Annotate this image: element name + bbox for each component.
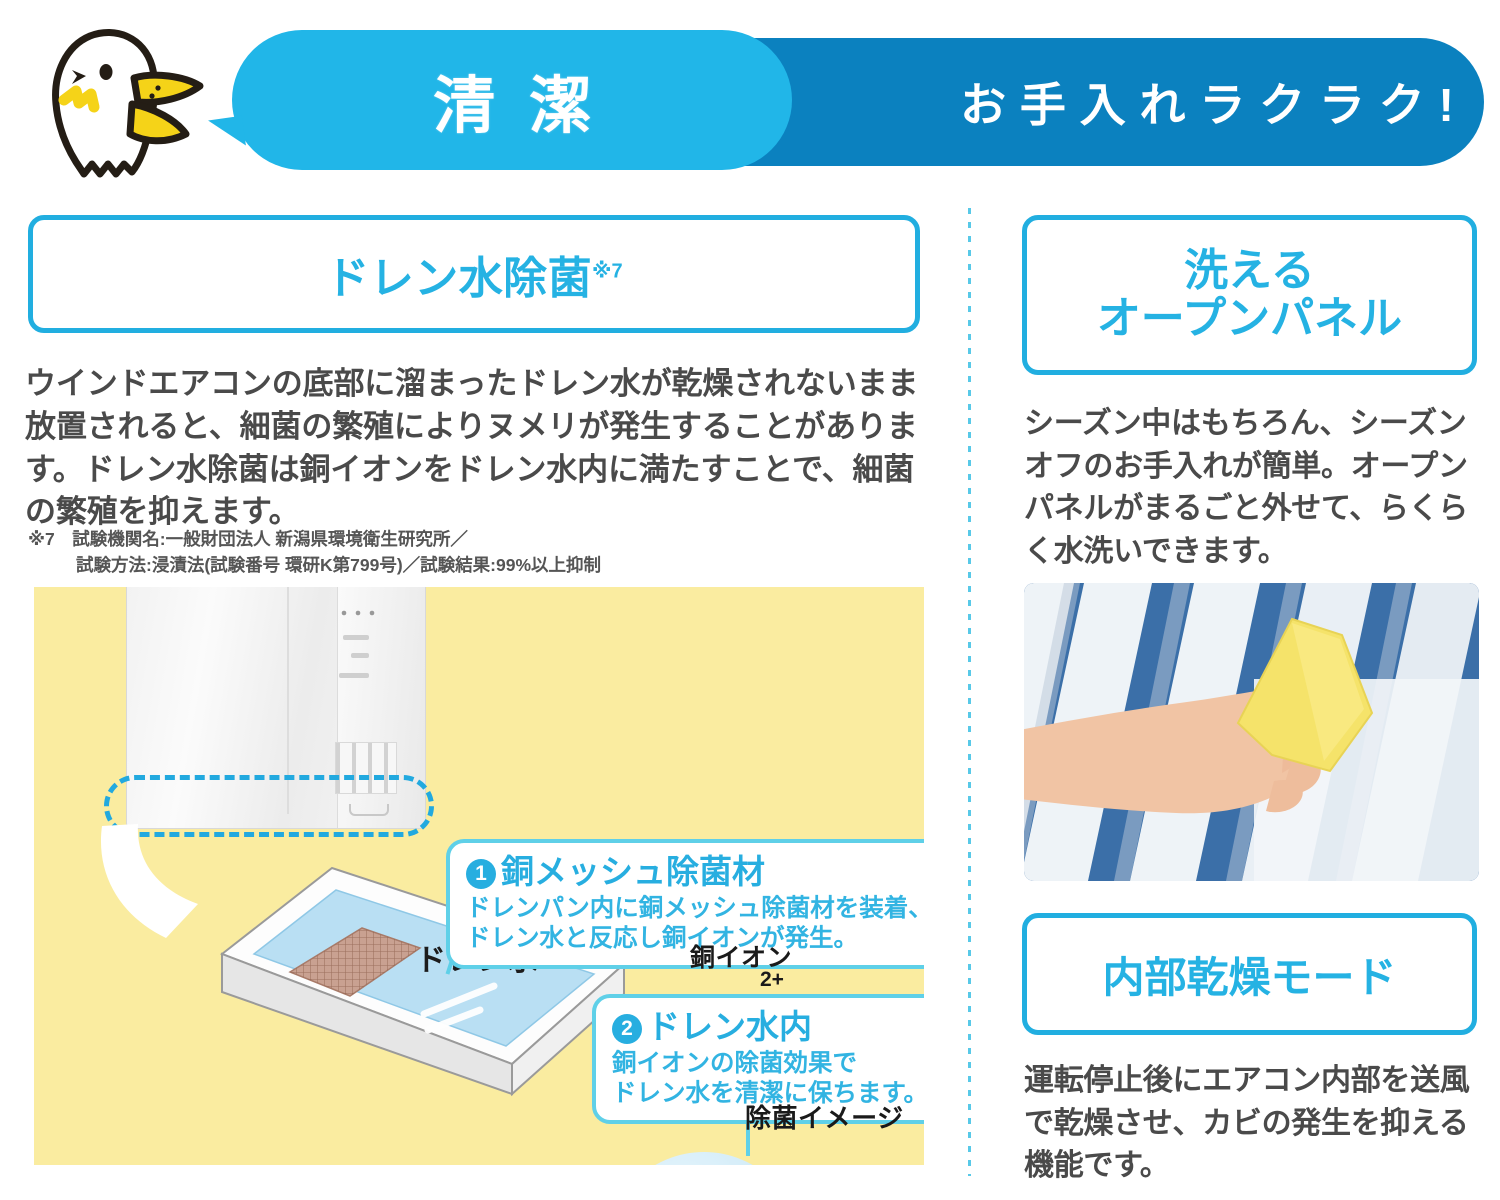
drain-title-footnote-marker: ※7: [592, 260, 623, 282]
drain-title-label: ドレン水除菌: [325, 254, 592, 303]
drain-title-text: ドレン水除菌※7: [325, 242, 622, 306]
footnote-line-1: ※7 試験機関名:一般財団法人 新潟県環境衛生研究所／: [28, 529, 468, 549]
right-column: 洗える オープンパネル シーズン中はもちろん、シーズンオフのお手入れが簡単。オー…: [1010, 205, 1490, 1185]
callout-2-number: 2: [612, 1014, 642, 1044]
callout-2-body-line-1: 銅イオンの除菌効果で: [612, 1050, 857, 1077]
washable-open-panel-body: シーズン中はもちろん、シーズンオフのお手入れが簡単。オープンパネルがまるごと外せ…: [1024, 403, 1482, 573]
left-column: ドレン水除菌※7 ウインドエアコンの底部に溜まったドレン水が乾燥されないまま放置…: [20, 205, 940, 1180]
sterilization-illustration: Cu 2+ Cu 2+ Cu 2+ Cu 2+ Cu 2+ 菌: [606, 1152, 802, 1165]
copper-ion-caption-charge: 2+: [760, 968, 784, 992]
drain-footnote: ※7 試験機関名:一般財団法人 新潟県環境衛生研究所／ 試験方法:浸漬法(試験番…: [28, 527, 928, 579]
column-divider: [968, 208, 971, 1176]
drain-body-text: ウインドエアコンの底部に溜まったドレン水が乾燥されないまま放置されると、細菌の繁…: [25, 363, 935, 534]
page-header: お手入れラクラク! 清潔: [0, 0, 1500, 195]
panel-cleaning-photo: [1024, 583, 1479, 881]
header-tagline: お手入れラクラク!: [930, 38, 1484, 166]
unit-slit: [351, 653, 369, 658]
internal-dry-mode-body: 運転停止後にエアコン内部を送風で乾燥させ、カビの発生を抑える機能です。: [1024, 1060, 1484, 1188]
callout-2-heading: 2ドレン水内: [612, 1008, 924, 1046]
callout-copper-mesh: 1銅メッシュ除菌材 ドレンパン内に銅メッシュ除菌材を装着、 ドレン水と反応し銅イ…: [446, 839, 924, 969]
sterilization-image-caption: 除菌イメージ: [745, 1098, 904, 1135]
internal-dry-mode-title: 内部乾燥モード: [1102, 944, 1396, 1005]
brochure-page: お手入れラクラク! 清潔 ドレン水除菌※7 ウインドエアコンの底部に溜まったドレ…: [0, 0, 1500, 1200]
penguin-bird-mascot-icon: [28, 22, 218, 187]
washable-open-panel-title-line-1: 洗える: [1184, 247, 1315, 295]
drain-title-box: ドレン水除菌※7: [28, 215, 920, 333]
header-bubble-left: 清潔: [232, 30, 792, 170]
unit-slit: [343, 635, 369, 640]
footnote-line-2: 試験方法:浸漬法(試験番号 環研K第799号)／試験結果:99%以上抑制: [28, 553, 928, 579]
callout-1-heading: 1銅メッシュ除菌材: [466, 853, 924, 891]
washable-open-panel-title-line-2: オープンパネル: [1097, 295, 1402, 343]
unit-slit: [339, 673, 369, 678]
sterilization-effect-rays: [606, 1152, 802, 1165]
unit-indicator-dots-icon: [337, 609, 377, 617]
washable-open-panel-title-box: 洗える オープンパネル: [1022, 215, 1477, 375]
callout-1-body-line-1: ドレンパン内に銅メッシュ除菌材を装着、: [466, 895, 924, 922]
callout-1-title: 銅メッシュ除菌材: [501, 853, 765, 890]
header-title: 清潔: [232, 30, 792, 170]
drain-sterilization-diagram: ドレン水 1銅メッシュ除菌材 ドレンパン内に銅メッシュ除菌材を装着、 ドレン水と…: [34, 587, 924, 1165]
callout-1-number: 1: [466, 859, 496, 889]
callout-2-title: ドレン水内: [647, 1008, 812, 1045]
callout-1-body-line-2: ドレン水と反応し銅イオンが発生。: [466, 925, 858, 952]
internal-dry-mode-title-box: 内部乾燥モード: [1022, 913, 1477, 1035]
